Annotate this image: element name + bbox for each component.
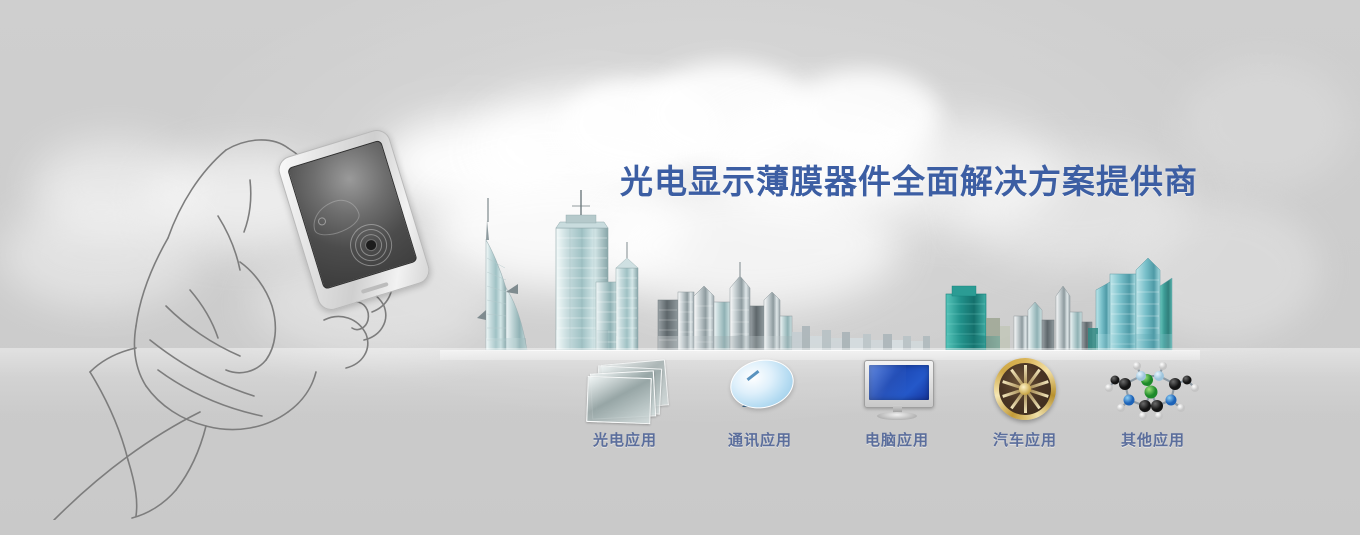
dish-reflector: [726, 354, 799, 414]
application-item-automotive[interactable]: 汽车应用: [960, 358, 1090, 449]
monitor-bezel: [864, 360, 934, 408]
atom-hydrogen: [1117, 404, 1125, 412]
atom-hydrogen: [1155, 412, 1163, 420]
monitor-screen: [869, 365, 929, 400]
glass-panels-icon: [575, 358, 675, 422]
page-headline: 光电显示薄膜器件全面解决方案提供商: [620, 160, 1198, 204]
application-label: 其他应用: [1088, 431, 1218, 449]
application-item-optoelectronic[interactable]: 光电应用: [560, 358, 690, 449]
atom-carbon: [1183, 376, 1192, 385]
horizon-line: [430, 350, 1220, 351]
atom-carbon: [1119, 378, 1131, 390]
monitor-glare: [869, 365, 906, 400]
atom-metal: [1145, 386, 1158, 399]
wheel-face: [999, 363, 1051, 415]
atom-hydrogen: [1159, 362, 1167, 370]
molecule-icon: [1103, 358, 1203, 422]
application-label: 通讯应用: [695, 431, 825, 449]
hero-banner: 光电显示薄膜器件全面解决方案提供商 光电应用 通讯应用: [0, 0, 1360, 535]
wheel-rim: [994, 358, 1056, 420]
monitor-icon: [847, 358, 947, 422]
atom-hydrogen: [1177, 404, 1185, 412]
car-wheel-icon: [975, 358, 1075, 422]
low-rise-field: [792, 326, 930, 350]
satellite-dish-icon: [710, 358, 810, 422]
atom-nitrogen: [1124, 395, 1135, 406]
atom-carbon: [1139, 400, 1151, 412]
atom-hydrogen: [1133, 362, 1141, 370]
silver-cluster-right: [1014, 286, 1092, 350]
atom-hydrogen: [1139, 412, 1147, 420]
atom-nitrogen: [1166, 395, 1177, 406]
atom-hydrogen: [1191, 384, 1199, 392]
atom-light: [1154, 371, 1164, 381]
application-item-communication[interactable]: 通讯应用: [695, 358, 825, 449]
wheel-hub: [1019, 383, 1031, 395]
application-label: 电脑应用: [832, 431, 962, 449]
application-item-other[interactable]: 其他应用: [1088, 358, 1218, 449]
application-icon-row: 光电应用 通讯应用 电脑应用: [560, 358, 1220, 473]
monitor-base: [877, 412, 917, 420]
atom-carbon: [1111, 376, 1120, 385]
sail-tower: [477, 198, 527, 350]
glass-panel: [586, 376, 652, 424]
atom-carbon: [1151, 400, 1163, 412]
atom-carbon: [1169, 378, 1181, 390]
atom-hydrogen: [1105, 384, 1113, 392]
application-label: 汽车应用: [960, 431, 1090, 449]
atom-light: [1136, 371, 1146, 381]
application-item-computer[interactable]: 电脑应用: [832, 358, 962, 449]
application-label: 光电应用: [560, 431, 690, 449]
